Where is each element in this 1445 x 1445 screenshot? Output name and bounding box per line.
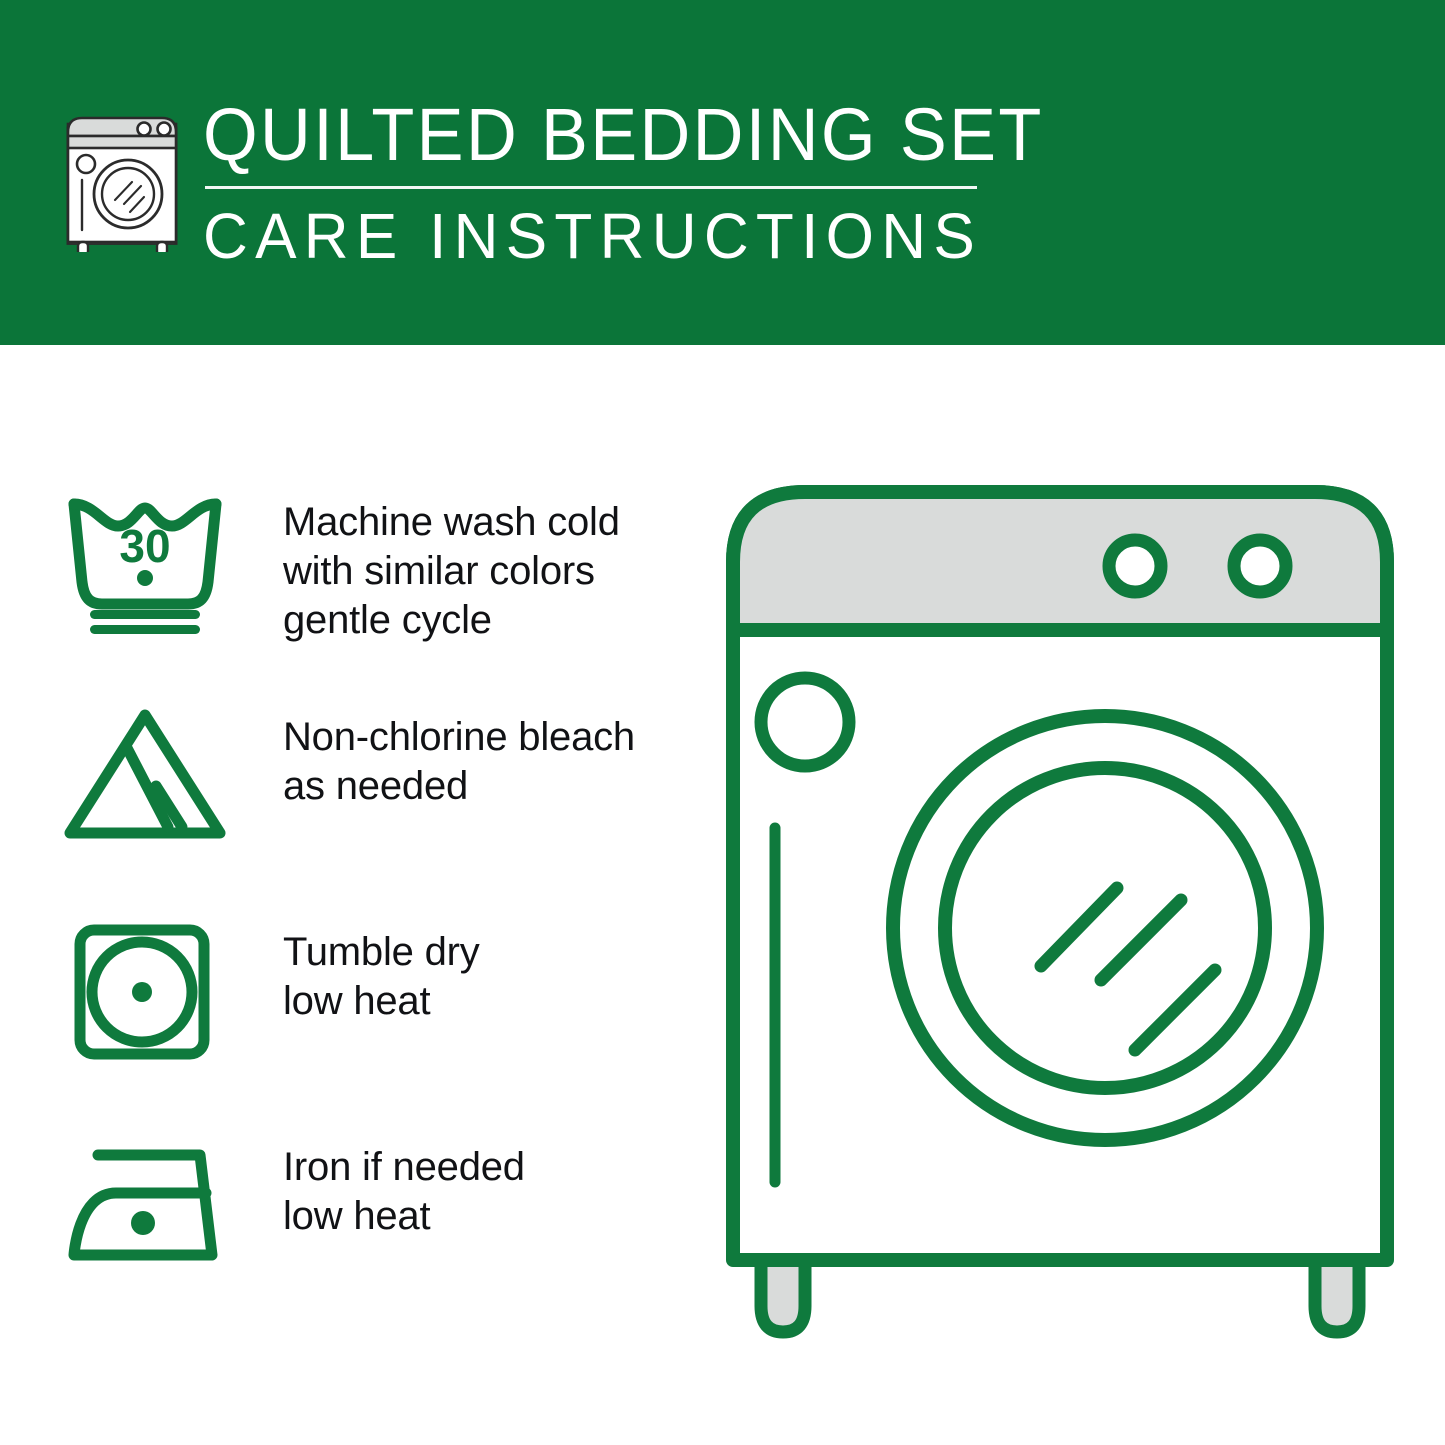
- care-line: gentle cycle: [283, 596, 620, 645]
- care-line: as needed: [283, 762, 635, 811]
- list-item: 30 Machine wash cold with similar colors…: [60, 480, 700, 695]
- care-text-wash: Machine wash cold with similar colors ge…: [245, 480, 620, 645]
- care-line: Tumble dry: [283, 928, 480, 977]
- detergent-dispenser: [761, 678, 849, 766]
- tumble-dry-low-heat-icon: [60, 910, 245, 1066]
- wash-tub-30-gentle-icon: 30: [60, 480, 245, 636]
- washing-machine-icon: [60, 102, 190, 252]
- care-instructions-list: 30 Machine wash cold with similar colors…: [60, 480, 700, 1340]
- header-banner: QUILTED BEDDING SET CARE INSTRUCTIONS: [0, 0, 1445, 345]
- care-line: Non-chlorine bleach: [283, 713, 635, 762]
- care-instructions-page: QUILTED BEDDING SET CARE INSTRUCTIONS 30…: [0, 0, 1445, 1445]
- page-title: QUILTED BEDDING SET: [203, 92, 954, 178]
- list-item: Tumble dry low heat: [60, 910, 700, 1125]
- care-line: Machine wash cold: [283, 498, 620, 547]
- header-title-block: QUILTED BEDDING SET CARE INSTRUCTIONS: [203, 92, 993, 273]
- door-inner-ring: [945, 768, 1265, 1088]
- care-text-iron: Iron if needed low heat: [245, 1125, 525, 1241]
- list-item: Non-chlorine bleach as needed: [60, 695, 700, 910]
- care-text-dry: Tumble dry low heat: [245, 910, 480, 1026]
- wash-temperature-value: 30: [119, 520, 170, 572]
- title-divider: [205, 186, 977, 189]
- non-chlorine-bleach-triangle-icon: [60, 695, 245, 851]
- care-line: low heat: [283, 1192, 525, 1241]
- list-item: Iron if needed low heat: [60, 1125, 700, 1340]
- care-line: with similar colors: [283, 547, 620, 596]
- iron-low-heat-icon: [60, 1125, 245, 1281]
- page-subtitle: CARE INSTRUCTIONS: [203, 199, 969, 273]
- front-load-washing-machine-illustration: [715, 470, 1405, 1370]
- care-line: Iron if needed: [283, 1143, 525, 1192]
- knob-left: [1109, 540, 1161, 592]
- knob-right: [1234, 540, 1286, 592]
- care-text-bleach: Non-chlorine bleach as needed: [245, 695, 635, 811]
- care-line: low heat: [283, 977, 480, 1026]
